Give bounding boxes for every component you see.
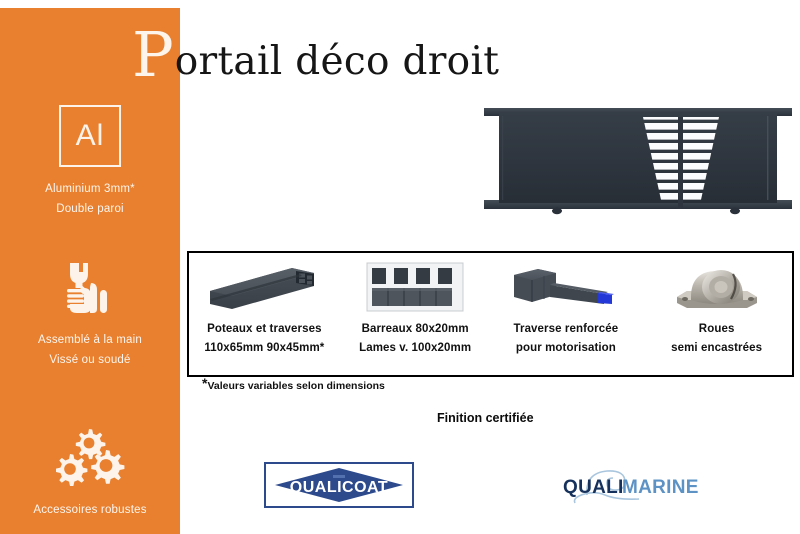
wheel-bearing-icon — [669, 259, 765, 315]
reinforced-crossbar-icon — [508, 259, 623, 315]
sidebar-feature-accessories: Accessoires robustes — [0, 428, 180, 520]
sidebar-feature-aluminium: Al Aluminium 3mm* Double paroi — [0, 105, 180, 219]
feature-cell-slats-line2: Lames v. 100x20mm — [359, 339, 471, 358]
footnote-text: Valeurs variables selon dimensions — [207, 380, 384, 392]
feature-cell-wheels-line2: semi encastrées — [671, 339, 762, 358]
hand-wrench-icon — [0, 258, 180, 320]
qualimarine-logo: QUALI MARINE — [545, 465, 720, 509]
feature-cell-wheels-line1: Roues — [699, 320, 735, 339]
feature-cell-wheels: Roues semi encastrées — [641, 253, 792, 375]
al-symbol-text: Al — [76, 121, 105, 151]
certification-heading: Finition certifiée — [437, 411, 534, 425]
qualimarine-logo-text-marine: MARINE — [622, 477, 699, 498]
features-box: Poteaux et traverses 110x65mm 90x45mm* — [187, 251, 794, 377]
feature-cell-slats-line1: Barreaux 80x20mm — [362, 320, 469, 339]
poster-root: Al Aluminium 3mm* Double paroi — [0, 0, 800, 534]
footnote: *Valeurs variables selon dimensions — [202, 380, 385, 392]
page-title-initial: P — [132, 24, 174, 86]
qualicoat-logo-text: QUALICOAT — [290, 479, 388, 496]
sidebar-feature-assembly-line1: Assemblé à la main — [0, 330, 180, 350]
slats-sample-icon — [365, 259, 465, 315]
gears-icon — [0, 428, 180, 490]
sidebar-feature-accessories-line1: Accessoires robustes — [0, 500, 180, 520]
sidebar-feature-aluminium-line2: Double paroi — [0, 199, 180, 219]
feature-cell-crossbar: Traverse renforcée pour motorisation — [491, 253, 642, 375]
aluminium-al-square-icon: Al — [59, 105, 121, 167]
sidebar-feature-assembly-line2: Vissé ou soudé — [0, 350, 180, 370]
qualimarine-logo-text-quali: QUALI — [563, 477, 624, 498]
page-title-rest: ortail déco droit — [175, 42, 500, 81]
footnote-star: * — [202, 375, 207, 391]
sidebar-feature-aluminium-line1: Aluminium 3mm* — [0, 179, 180, 199]
feature-cell-posts-line1: Poteaux et traverses — [207, 320, 322, 339]
feature-cell-crossbar-line2: pour motorisation — [516, 339, 616, 358]
feature-cell-posts: Poteaux et traverses 110x65mm 90x45mm* — [189, 253, 340, 375]
feature-cell-crossbar-line1: Traverse renforcée — [514, 320, 619, 339]
sidebar-feature-assembly: Assemblé à la main Vissé ou soudé — [0, 258, 180, 370]
qualicoat-logo: QUALICOAT — [264, 462, 414, 508]
feature-cell-posts-line2: 110x65mm 90x45mm* — [204, 339, 324, 358]
post-profile-icon — [204, 259, 324, 315]
portail-deco-droit-photo — [482, 100, 794, 225]
page-title: P ortail déco droit — [132, 22, 499, 84]
feature-cell-slats: Barreaux 80x20mm Lames v. 100x20mm — [340, 253, 491, 375]
